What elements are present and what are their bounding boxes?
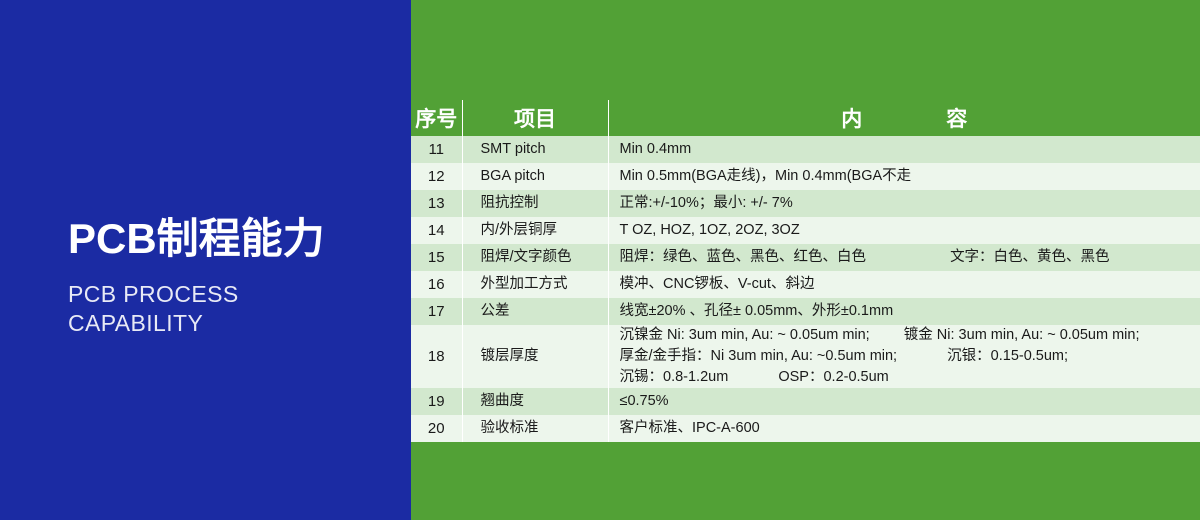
table-row: 16 外型加工方式 模冲、CNC锣板、V-cut、斜边 [411,271,1200,298]
plating-immersion-silver: 沉银：0.15-0.5um; [947,348,1068,364]
row-number: 15 [411,244,462,271]
table-row: 15 阻焊/文字颜色 阻焊：绿色、蓝色、黑色、红色、白色 文字：白色、黄色、黑色 [411,244,1200,271]
table-row: 19 翘曲度 ≤0.75% [411,388,1200,415]
page-title-english-line2: CAPABILITY [68,309,408,338]
page-title-chinese: PCB制程能力 [68,218,408,260]
table-header: 序号 项目 内 容 [411,100,1200,136]
plating-line-3: 沉锡：0.8-1.2um OSP：0.2-0.5um [620,367,1200,388]
row-item: 内/外层铜厚 [462,217,608,244]
row-content: Min 0.5mm(BGA走线)，Min 0.4mm(BGA不走 [608,163,1200,190]
table-row: 18 镀层厚度 沉镍金 Ni: 3um min, Au: ~ 0.05um mi… [411,325,1200,388]
row-content: 线宽±20% 、孔径± 0.05mm、外形±0.1mm [608,298,1200,325]
row-number: 12 [411,163,462,190]
plating-thick-gold: 厚金/金手指：Ni 3um min, Au: ~0.5um min; [620,348,898,364]
row-number: 14 [411,217,462,244]
row-content: 沉镍金 Ni: 3um min, Au: ~ 0.05um min; 镀金 Ni… [608,325,1200,388]
plating-immersion-tin: 沉锡：0.8-1.2um [620,369,729,385]
table-row: 11 SMT pitch Min 0.4mm [411,136,1200,163]
row-content: 阻焊：绿色、蓝色、黑色、红色、白色 文字：白色、黄色、黑色 [608,244,1200,271]
title-panel: PCB制程能力 PCB PROCESS CAPABILITY [0,0,411,520]
row-content-silkscreen: 文字：白色、黄色、黑色 [950,249,1110,265]
row-content: 客户标准、IPC-A-600 [608,415,1200,442]
plating-gold: 镀金 Ni: 3um min, Au: ~ 0.05um min; [904,327,1140,343]
row-content: ≤0.75% [608,388,1200,415]
table-row: 17 公差 线宽±20% 、孔径± 0.05mm、外形±0.1mm [411,298,1200,325]
row-item: 验收标准 [462,415,608,442]
row-content: Min 0.4mm [608,136,1200,163]
title-block: PCB制程能力 PCB PROCESS CAPABILITY [68,218,408,338]
plating-line-2: 厚金/金手指：Ni 3um min, Au: ~0.5um min; 沉银：0.… [620,346,1200,367]
page-title-english: PCB PROCESS CAPABILITY [68,280,408,338]
column-header-content-label: 内 容 [827,108,981,131]
row-number: 11 [411,136,462,163]
table-row: 13 阻抗控制 正常:+/-10%；最小: +/- 7% [411,190,1200,217]
table-body: 11 SMT pitch Min 0.4mm 12 BGA pitch Min … [411,136,1200,442]
row-number: 17 [411,298,462,325]
row-number: 18 [411,325,462,388]
row-item: SMT pitch [462,136,608,163]
plating-line-1: 沉镍金 Ni: 3um min, Au: ~ 0.05um min; 镀金 Ni… [620,325,1200,346]
column-header-item: 项目 [462,100,608,136]
row-content: T OZ, HOZ, 1OZ, 2OZ, 3OZ [608,217,1200,244]
row-content: 模冲、CNC锣板、V-cut、斜边 [608,271,1200,298]
pcb-capability-table: 序号 项目 内 容 11 SMT pitch Min 0.4mm 12 BGA … [411,100,1200,442]
row-item: 外型加工方式 [462,271,608,298]
row-item: 阻抗控制 [462,190,608,217]
row-item: 公差 [462,298,608,325]
table-row: 14 内/外层铜厚 T OZ, HOZ, 1OZ, 2OZ, 3OZ [411,217,1200,244]
column-header-no: 序号 [411,100,462,136]
row-item: 翘曲度 [462,388,608,415]
column-header-content: 内 容 [608,100,1200,136]
row-number: 13 [411,190,462,217]
row-content: 正常:+/-10%；最小: +/- 7% [608,190,1200,217]
row-item: 阻焊/文字颜色 [462,244,608,271]
plating-osp: OSP：0.2-0.5um [778,369,888,385]
table-row: 20 验收标准 客户标准、IPC-A-600 [411,415,1200,442]
plating-enig: 沉镍金 Ni: 3um min, Au: ~ 0.05um min; [620,327,870,343]
table-row: 12 BGA pitch Min 0.5mm(BGA走线)，Min 0.4mm(… [411,163,1200,190]
row-item: BGA pitch [462,163,608,190]
row-number: 19 [411,388,462,415]
row-item: 镀层厚度 [462,325,608,388]
row-content-soldermask: 阻焊：绿色、蓝色、黑色、红色、白色 [620,249,867,265]
row-number: 16 [411,271,462,298]
row-number: 20 [411,415,462,442]
table-header-row: 序号 项目 内 容 [411,100,1200,136]
page-title-english-line1: PCB PROCESS [68,280,408,309]
